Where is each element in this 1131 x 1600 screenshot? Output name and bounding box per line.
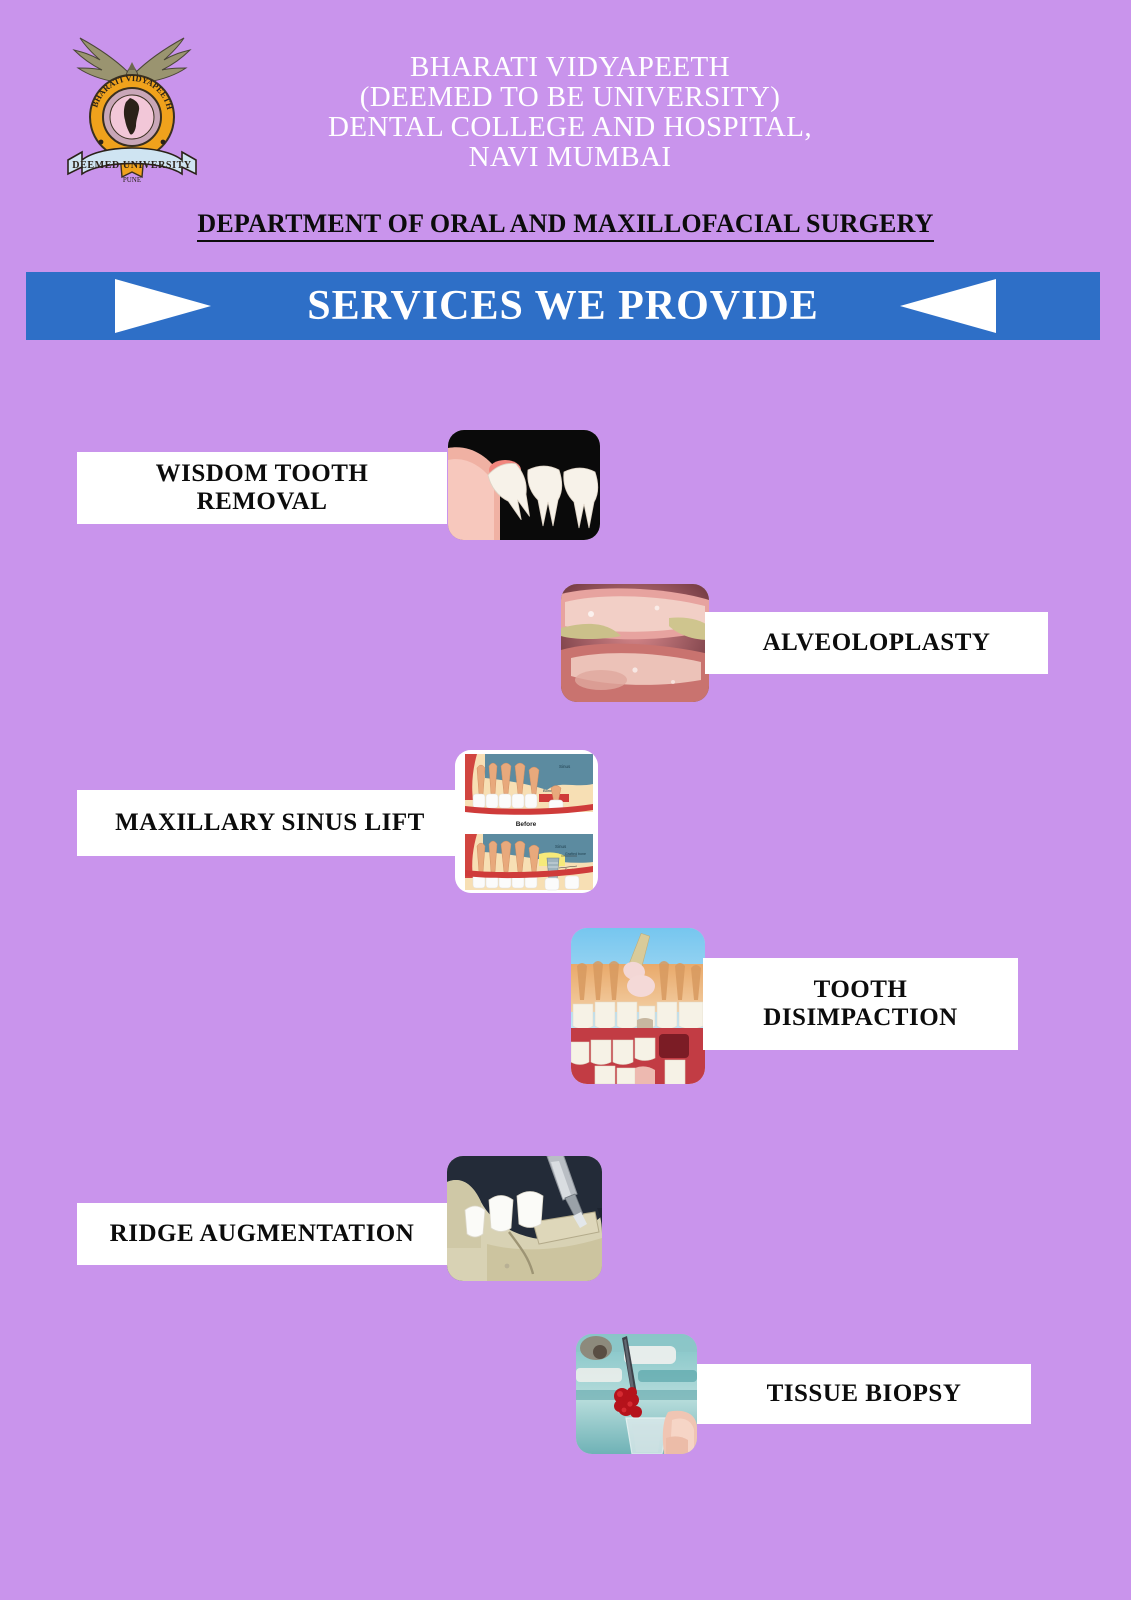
impacted-wisdom-tooth-illustration (448, 430, 600, 540)
university-title-line-3: DENTAL COLLEGE AND HOSPITAL, (215, 112, 925, 142)
svg-text:Sinus: Sinus (559, 764, 571, 769)
svg-text:PUNE: PUNE (123, 176, 141, 184)
page-header: BHARATI VIDYAPEETH DEEMED UNIVERSITY PUN… (0, 0, 1131, 205)
services-banner: SERVICES WE PROVIDE (26, 272, 1100, 340)
service-label-tissue-biopsy: TISSUE BIOPSY (697, 1364, 1031, 1424)
svg-text:Sinus: Sinus (555, 844, 567, 849)
service-label-maxillary-sinus-lift: MAXILLARY SINUS LIFT (77, 790, 463, 856)
alveolar-ridge-clinical-photo (561, 584, 709, 702)
university-title-line-4: NAVI MUMBAI (215, 142, 925, 172)
bharati-vidyapeeth-emblem-icon: BHARATI VIDYAPEETH DEEMED UNIVERSITY PUN… (52, 22, 212, 187)
department-title-text: DEPARTMENT OF ORAL AND MAXILLOFACIAL SUR… (197, 209, 933, 242)
university-title: BHARATI VIDYAPEETH (DEEMED TO BE UNIVERS… (215, 52, 925, 172)
impacted-canine-3d-illustration (571, 928, 705, 1084)
svg-text:Grafted bone: Grafted bone (565, 852, 586, 856)
service-label-wisdom-tooth-removal: WISDOM TOOTH REMOVAL (77, 452, 447, 524)
service-label-alveoloplasty: ALVEOLOPLASTY (705, 612, 1048, 674)
mandible-bone-graft-illustration (447, 1156, 602, 1281)
university-title-line-1: BHARATI VIDYAPEETH (215, 52, 925, 82)
sinus-lift-before-after-diagram: Sinus Bone Before (455, 750, 598, 893)
university-title-line-2: (DEEMED TO BE UNIVERSITY) (215, 82, 925, 112)
svg-text:DEEMED UNIVERSITY: DEEMED UNIVERSITY (72, 160, 192, 171)
tissue-specimen-clinical-photo (576, 1334, 697, 1454)
service-label-ridge-augmentation: RIDGE AUGMENTATION (77, 1203, 447, 1265)
svg-text:Before: Before (516, 821, 537, 828)
department-title: DEPARTMENT OF ORAL AND MAXILLOFACIAL SUR… (0, 209, 1131, 239)
service-label-tooth-disimpaction: TOOTH DISIMPACTION (703, 958, 1018, 1050)
services-banner-title: SERVICES WE PROVIDE (26, 272, 1100, 340)
